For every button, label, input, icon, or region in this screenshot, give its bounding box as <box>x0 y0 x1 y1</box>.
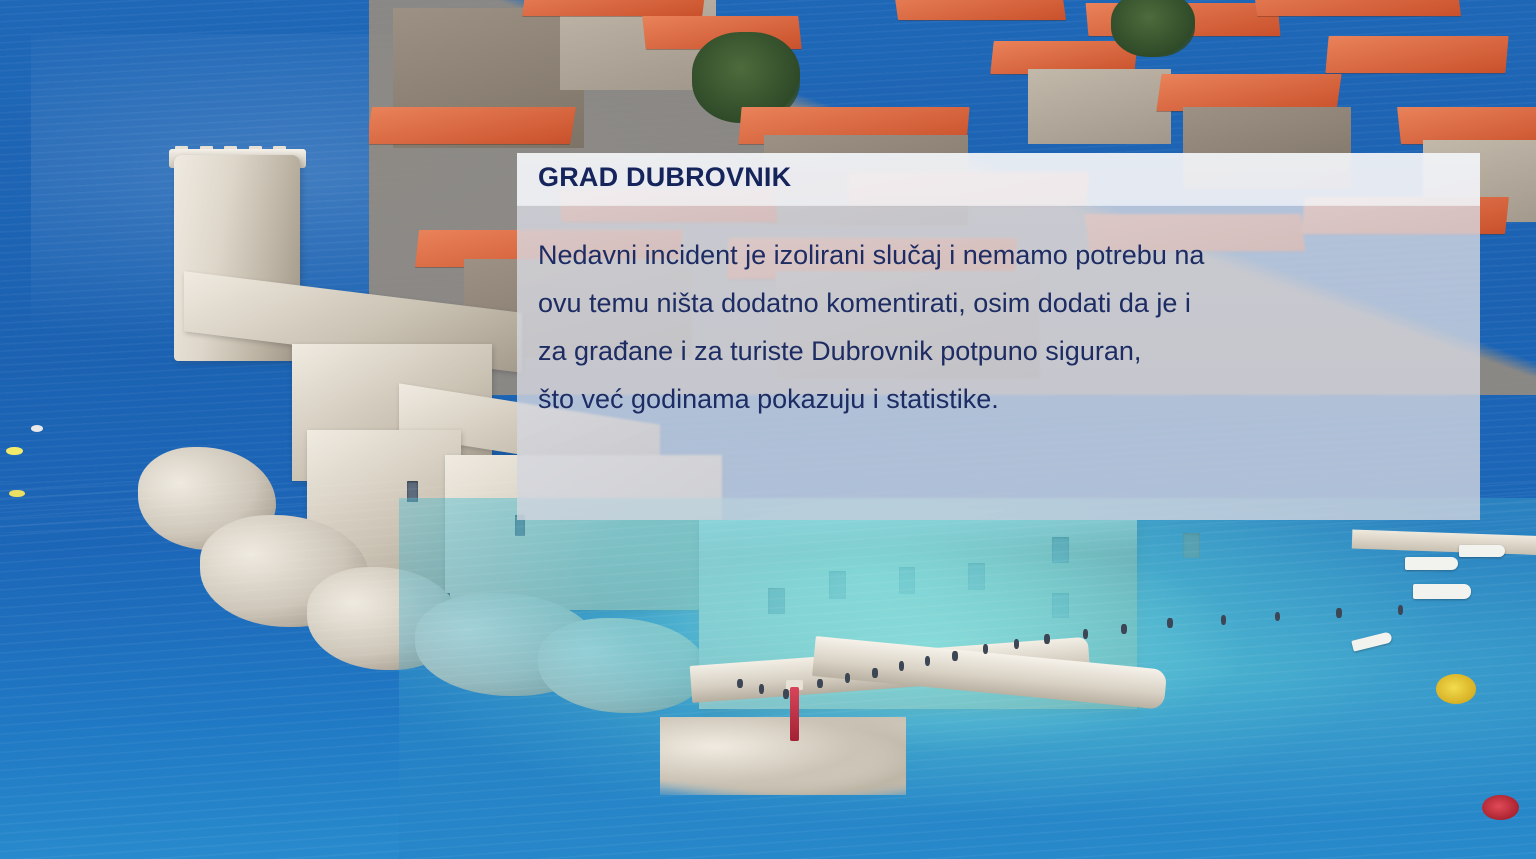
caption-title: GRAD DUBROVNIK <box>538 162 791 193</box>
distant-buoy <box>31 425 43 432</box>
caption-body-line: Nedavni incident je izolirani slučaj i n… <box>538 231 1463 279</box>
moored-boat <box>1459 545 1505 558</box>
moored-boat <box>1405 557 1457 571</box>
harbour-beacon-red <box>790 687 800 741</box>
lower-third-caption-panel: GRAD DUBROVNIK Nedavni incident je izoli… <box>517 153 1480 520</box>
broadcast-frame: GRAD DUBROVNIK Nedavni incident je izoli… <box>0 0 1536 859</box>
yellow-boat <box>1436 674 1476 703</box>
breakwater-rocks <box>660 717 906 794</box>
distant-buoy <box>9 490 24 498</box>
red-kayak <box>1482 795 1519 821</box>
caption-body-line: što već godinama pokazuju i statistike. <box>538 375 1463 423</box>
caption-body-line: za građane i za turiste Dubrovnik potpun… <box>538 327 1463 375</box>
caption-body-line: ovu temu ništa dodatno komentirati, osim… <box>538 279 1463 327</box>
caption-body: Nedavni incident je izolirani slučaj i n… <box>538 231 1463 423</box>
moored-boat <box>1413 584 1471 599</box>
